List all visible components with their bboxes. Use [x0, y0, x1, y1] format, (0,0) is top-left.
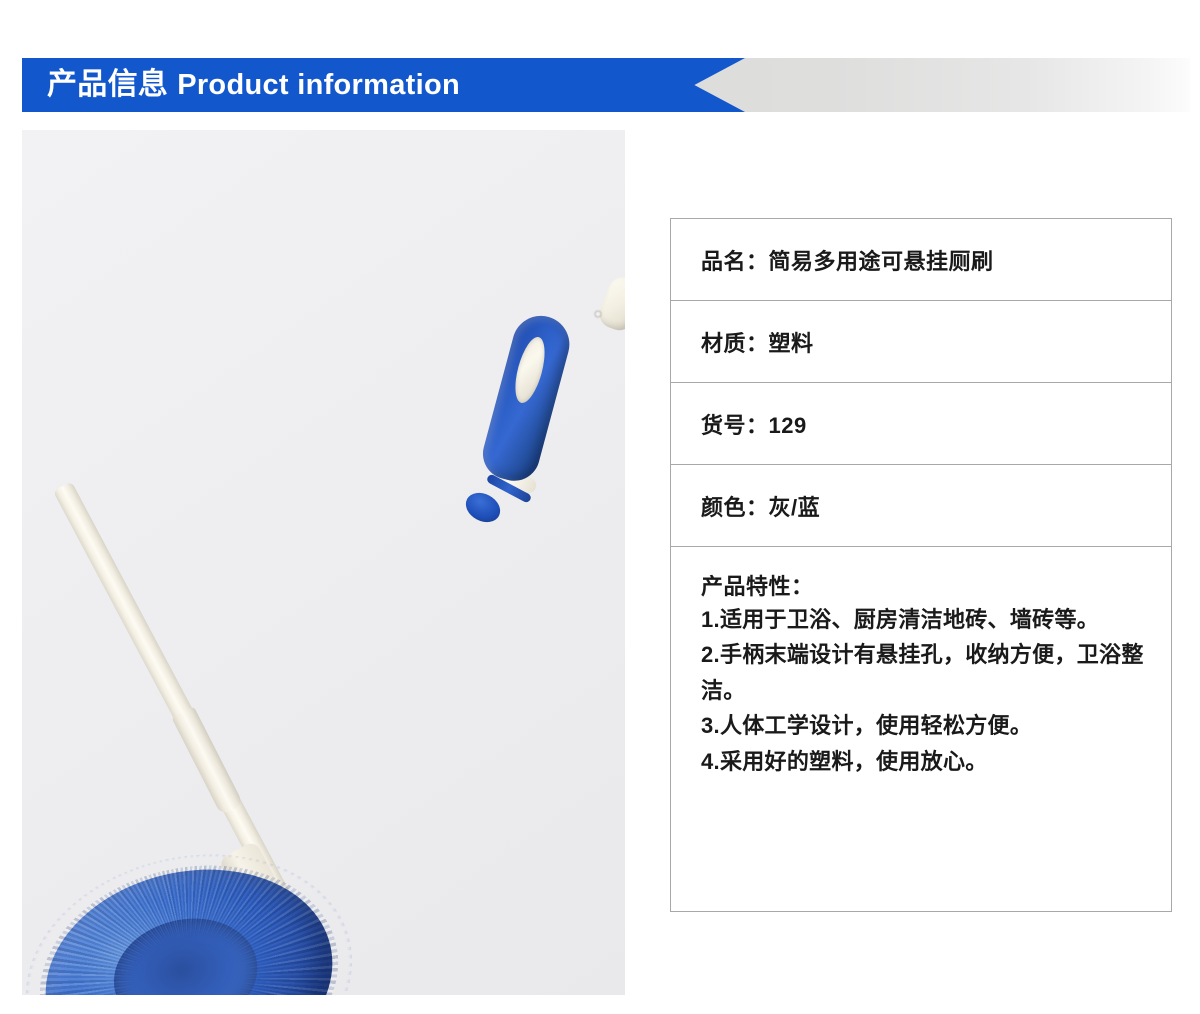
brush-handle-shaft-lower	[171, 706, 243, 815]
bristle-fringe	[22, 823, 377, 995]
header-banner: 产品信息Product information	[0, 0, 1200, 130]
spec-material: 材质：塑料	[701, 326, 814, 358]
page-title-cn: 产品信息	[47, 68, 168, 101]
table-row: 颜色：灰/蓝	[671, 465, 1171, 547]
table-row: 品名：简易多用途可悬挂厕刷	[671, 219, 1171, 301]
table-row: 材质：塑料	[671, 301, 1171, 383]
table-row: 货号：129	[671, 383, 1171, 465]
spec-item-number: 货号：129	[701, 408, 807, 440]
hanging-hole-icon	[595, 311, 601, 317]
spec-color: 颜色：灰/蓝	[701, 490, 820, 522]
page-title-en: Product information	[177, 69, 460, 101]
brush-handle-tip	[596, 272, 625, 334]
list-item: 2.手柄末端设计有悬挂孔，收纳方便，卫浴整洁。	[701, 637, 1145, 708]
product-features-cell: 产品特性： 1.适用于卫浴、厨房清洁地砖、墙砖等。 2.手柄末端设计有悬挂孔，收…	[671, 547, 1171, 911]
header-blue-ribbon: 产品信息Product information	[22, 58, 745, 112]
features-title: 产品特性：	[701, 573, 1145, 602]
product-image-content	[22, 130, 625, 995]
brush-head-bristles	[24, 842, 354, 995]
product-spec-table: 品名：简易多用途可悬挂厕刷 材质：塑料 货号：129 颜色：灰/蓝 产品特性： …	[670, 218, 1172, 912]
page-title: 产品信息Product information	[47, 70, 460, 100]
spec-product-name: 品名：简易多用途可悬挂厕刷	[701, 244, 994, 276]
list-item: 1.适用于卫浴、厨房清洁地砖、墙砖等。	[701, 602, 1145, 638]
product-image	[22, 130, 625, 995]
features-list: 1.适用于卫浴、厨房清洁地砖、墙砖等。 2.手柄末端设计有悬挂孔，收纳方便，卫浴…	[701, 602, 1145, 780]
list-item: 4.采用好的塑料，使用放心。	[701, 744, 1145, 780]
handle-blue-accent-dot	[461, 487, 505, 528]
list-item: 3.人体工学设计，使用轻松方便。	[701, 708, 1145, 744]
